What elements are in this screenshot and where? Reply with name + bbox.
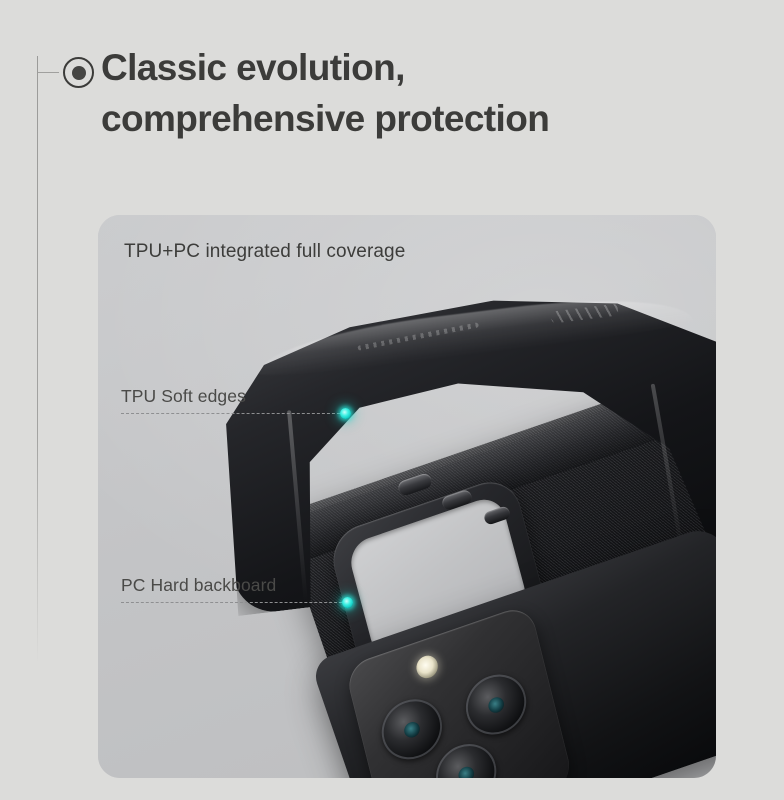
callout-leader-line xyxy=(121,413,345,414)
camera-flash-icon xyxy=(414,653,440,682)
phone-case-render xyxy=(98,215,716,778)
product-feature-slide: Classic evolution, comprehensive protect… xyxy=(0,0,784,800)
callout-label: PC Hard backboard xyxy=(121,575,276,596)
callout-marker-dot xyxy=(340,408,351,419)
panel-title: TPU+PC integrated full coverage xyxy=(124,241,405,263)
camera-lens-2 xyxy=(460,666,533,743)
camera-lens-1 xyxy=(376,691,449,768)
page-title: Classic evolution, comprehensive protect… xyxy=(101,42,741,144)
camera-lens-3 xyxy=(430,736,503,778)
feature-panel: TPU+PC integrated full coverage xyxy=(98,215,716,778)
callout-leader-line xyxy=(121,602,347,603)
left-rail-vertical-line xyxy=(37,56,38,664)
callout-marker-dot xyxy=(342,597,353,608)
callout-label: TPU Soft edges xyxy=(121,386,246,407)
page-title-line-1: Classic evolution, xyxy=(101,42,741,93)
page-title-line-2: comprehensive protection xyxy=(101,93,741,144)
left-rail-connector-tick xyxy=(38,72,59,73)
ring-dot-icon xyxy=(63,57,94,88)
